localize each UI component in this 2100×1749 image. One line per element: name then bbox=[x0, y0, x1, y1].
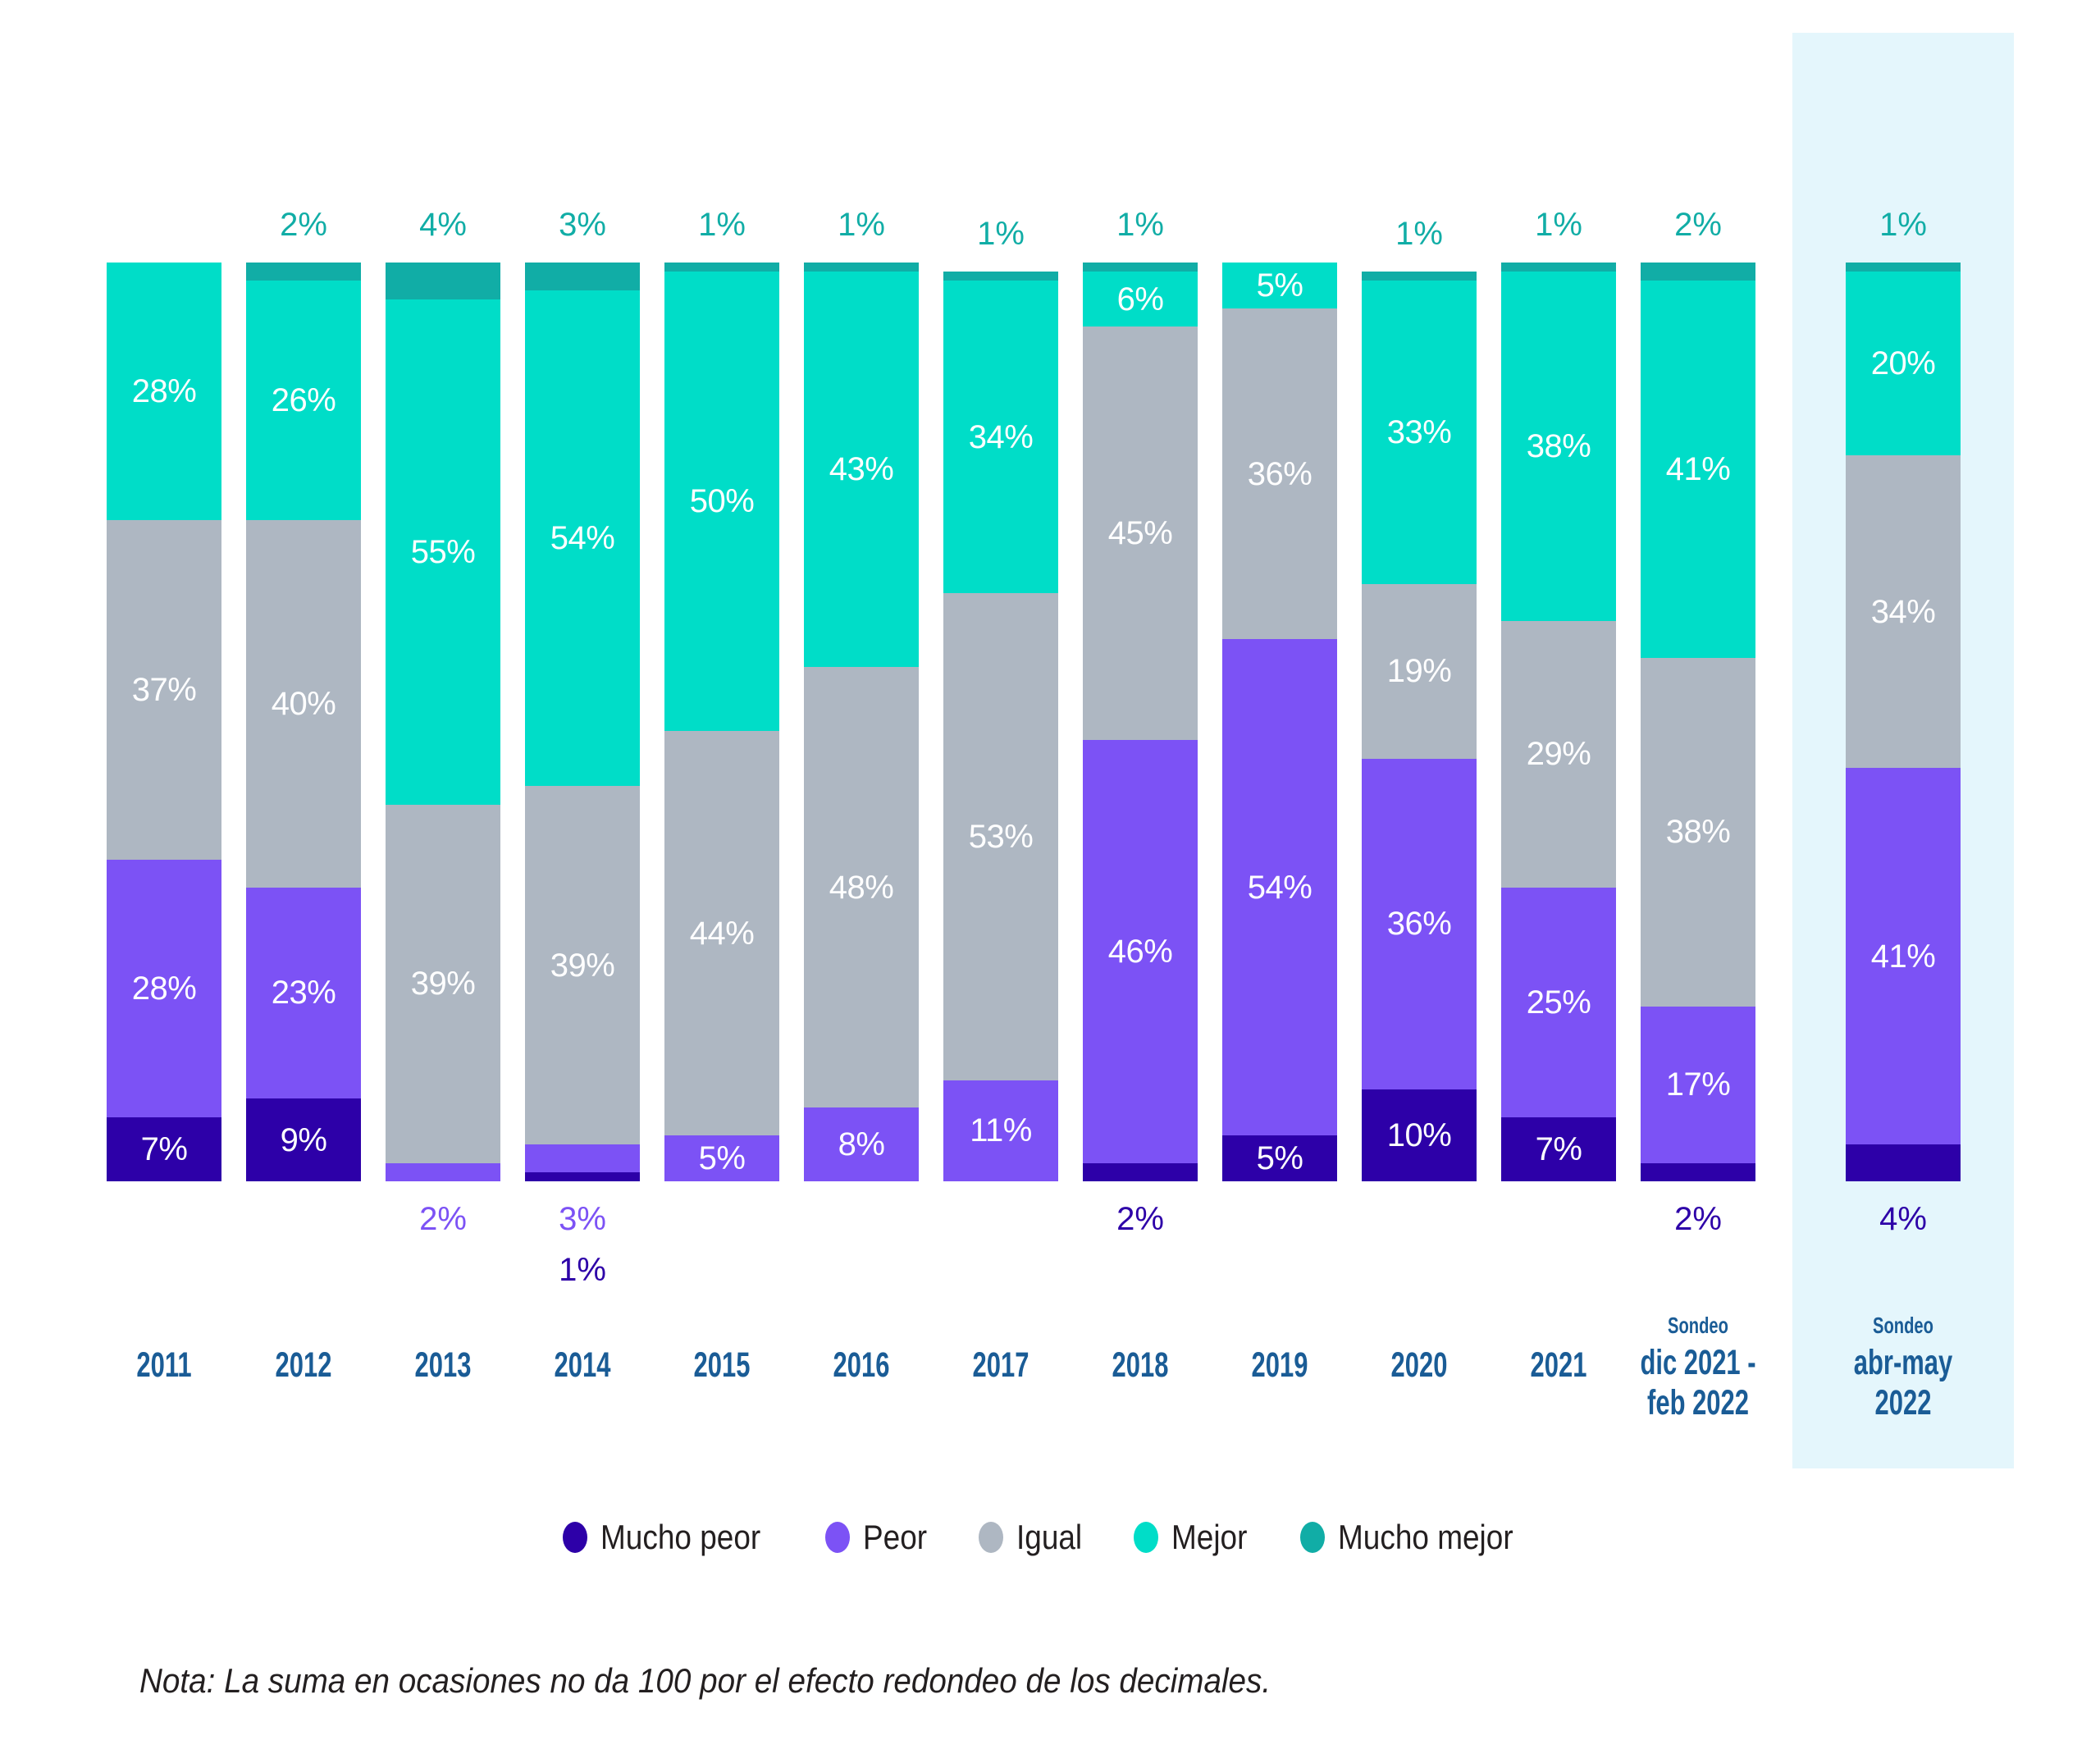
bar-segment[interactable] bbox=[1846, 263, 1961, 272]
bar-segment[interactable]: 38% bbox=[1501, 272, 1616, 621]
segment-value-label-external: 1% bbox=[838, 208, 885, 241]
bar-segment[interactable]: 34% bbox=[1846, 455, 1961, 768]
segment-value-label: 17% bbox=[1666, 1068, 1731, 1101]
segment-value-label: 37% bbox=[132, 674, 197, 706]
segment-value-label-external: 2% bbox=[280, 208, 327, 241]
legend-label: Mejor bbox=[1171, 1518, 1247, 1557]
bar-segment[interactable]: 38% bbox=[1641, 658, 1755, 1007]
bar-segment[interactable] bbox=[664, 263, 779, 272]
bar-segment[interactable] bbox=[943, 272, 1058, 281]
bar-segment[interactable]: 45% bbox=[1083, 327, 1198, 740]
bar-segment[interactable]: 9% bbox=[246, 1098, 361, 1181]
bar-segment[interactable]: 41% bbox=[1846, 768, 1961, 1144]
segment-value-label: 40% bbox=[272, 687, 336, 720]
x-axis-label-10: 2020 bbox=[1360, 1345, 1478, 1385]
x-axis-label-3: 2013 bbox=[384, 1345, 502, 1385]
bar-segment[interactable]: 50% bbox=[664, 272, 779, 731]
segment-value-label: 44% bbox=[690, 917, 755, 950]
legend-item-mucho-mejor[interactable]: Mucho mejor bbox=[1300, 1518, 1537, 1557]
bar-segment[interactable] bbox=[1083, 263, 1198, 272]
bar-column[interactable]: 2%26%40%23%9% bbox=[246, 33, 361, 1444]
segment-value-label: 19% bbox=[1387, 655, 1452, 687]
x-axis-label-main: 2017 bbox=[973, 1345, 1029, 1385]
bar-segment[interactable]: 26% bbox=[246, 281, 361, 519]
segment-value-label: 26% bbox=[272, 384, 336, 417]
bar-segment[interactable]: 41% bbox=[1641, 281, 1755, 657]
bar-column[interactable]: 1%38%29%25%7% bbox=[1501, 33, 1616, 1444]
bar-stack: 1%34%53%11% bbox=[943, 272, 1058, 1181]
segment-value-label: 41% bbox=[1871, 940, 1936, 973]
bar-segment[interactable] bbox=[246, 263, 361, 281]
segment-value-label: 43% bbox=[829, 453, 894, 486]
bar-segment[interactable]: 36% bbox=[1362, 759, 1477, 1089]
bar-segment[interactable]: 55% bbox=[386, 299, 500, 805]
segment-value-label-external: 2% bbox=[1674, 1203, 1722, 1235]
segment-value-label-external: 1% bbox=[698, 208, 746, 241]
segment-value-label: 6% bbox=[1117, 283, 1164, 316]
x-axis-label-11: 2021 bbox=[1500, 1345, 1618, 1385]
bar-stack: 1%20%34%41%4% bbox=[1846, 263, 1961, 1181]
bar-segment[interactable] bbox=[1641, 1163, 1755, 1181]
bar-column[interactable]: 3%54%39%3%1% bbox=[525, 33, 640, 1444]
bar-segment[interactable]: 8% bbox=[804, 1107, 919, 1181]
bar-column[interactable]: 1%20%34%41%4% bbox=[1846, 33, 1961, 1444]
bar-segment[interactable]: 39% bbox=[386, 805, 500, 1163]
bar-segment[interactable]: 54% bbox=[525, 290, 640, 787]
x-axis-label-main: 2018 bbox=[1112, 1345, 1169, 1385]
bar-segment[interactable]: 54% bbox=[1222, 639, 1337, 1135]
x-axis-label-6: 2016 bbox=[802, 1345, 920, 1385]
bar-column[interactable]: 28%37%28%7% bbox=[107, 33, 221, 1444]
segment-value-label: 23% bbox=[272, 976, 336, 1009]
bar-column[interactable]: 5%36%54%5% bbox=[1222, 33, 1337, 1444]
segment-value-label-external: 4% bbox=[419, 208, 467, 241]
segment-value-label: 20% bbox=[1871, 347, 1936, 380]
x-axis-labels: 2011201220132014201520162017201820192020… bbox=[98, 1313, 2018, 1444]
segment-value-label-external: 1% bbox=[1116, 208, 1164, 241]
x-axis-label-8: 2018 bbox=[1081, 1345, 1199, 1385]
x-axis-label-main: 2020 bbox=[1391, 1345, 1448, 1385]
x-axis-label-13: Sondeoabr-may2022 bbox=[1844, 1313, 1962, 1422]
x-axis-label-main: 2013 bbox=[415, 1345, 472, 1385]
legend-label: Peor bbox=[863, 1518, 927, 1557]
bar-column[interactable]: 1%43%48%8% bbox=[804, 33, 919, 1444]
segment-value-label: 25% bbox=[1527, 986, 1591, 1019]
bar-segment[interactable] bbox=[1083, 1163, 1198, 1181]
x-axis-label-12: Sondeodic 2021 -feb 2022 bbox=[1639, 1313, 1757, 1422]
bar-segment[interactable]: 28% bbox=[107, 263, 221, 520]
bar-column[interactable]: 2%41%38%17%2% bbox=[1641, 33, 1755, 1444]
segment-value-label: 34% bbox=[1871, 596, 1936, 628]
bar-segment[interactable]: 33% bbox=[1362, 281, 1477, 584]
bar-column[interactable]: 1%6%45%46%2% bbox=[1083, 33, 1198, 1444]
legend-item-mucho-peor[interactable]: Mucho peor bbox=[563, 1518, 783, 1557]
bar-stack: 5%36%54%5% bbox=[1222, 263, 1337, 1181]
bar-segment[interactable]: 48% bbox=[804, 667, 919, 1108]
segment-value-label-external: 3% bbox=[559, 1203, 606, 1235]
bar-segment[interactable]: 11% bbox=[943, 1080, 1058, 1181]
segment-value-label: 5% bbox=[699, 1142, 746, 1175]
plot-area: 28%37%28%7%2%26%40%23%9%4%55%39%2%3%54%3… bbox=[98, 33, 2018, 1444]
segment-value-label: 28% bbox=[132, 972, 197, 1005]
segment-value-label-external: 1% bbox=[559, 1254, 606, 1286]
bar-segment[interactable]: 28% bbox=[107, 860, 221, 1117]
legend-swatch-icon bbox=[979, 1522, 1003, 1553]
bar-segment[interactable] bbox=[386, 263, 500, 299]
bar-segment[interactable]: 10% bbox=[1362, 1089, 1477, 1181]
stacked-bars-layer: 28%37%28%7%2%26%40%23%9%4%55%39%2%3%54%3… bbox=[98, 33, 2018, 1444]
x-axis-label-main: 2011 bbox=[136, 1345, 191, 1385]
segment-value-label: 54% bbox=[550, 522, 615, 555]
x-axis-label-prefix: Sondeo bbox=[1639, 1313, 1757, 1338]
segment-value-label-external: 1% bbox=[1395, 217, 1443, 250]
segment-value-label: 28% bbox=[132, 375, 197, 408]
segment-value-label: 7% bbox=[1536, 1133, 1582, 1166]
bar-stack: 28%37%28%7% bbox=[107, 263, 221, 1181]
segment-value-label: 50% bbox=[690, 485, 755, 518]
legend-swatch-icon bbox=[563, 1522, 587, 1553]
bar-segment[interactable]: 34% bbox=[943, 281, 1058, 593]
bar-segment[interactable]: 29% bbox=[1501, 621, 1616, 888]
bar-segment[interactable] bbox=[386, 1163, 500, 1181]
legend-item-peor[interactable]: Peor bbox=[825, 1518, 936, 1557]
bar-segment[interactable]: 7% bbox=[1501, 1117, 1616, 1181]
x-axis-label-main: 2021 bbox=[1531, 1345, 1587, 1385]
bar-stack: 2%41%38%17%2% bbox=[1641, 263, 1755, 1181]
bar-stack: 2%26%40%23%9% bbox=[246, 263, 361, 1181]
segment-value-label: 33% bbox=[1387, 416, 1452, 449]
segment-value-label: 38% bbox=[1527, 430, 1591, 463]
bar-segment[interactable]: 43% bbox=[804, 272, 919, 667]
bar-segment[interactable]: 36% bbox=[1222, 308, 1337, 639]
x-axis-label-7: 2017 bbox=[942, 1345, 1060, 1385]
segment-value-label: 9% bbox=[281, 1124, 327, 1157]
segment-value-label: 34% bbox=[969, 421, 1034, 454]
x-axis-label-2: 2012 bbox=[244, 1345, 363, 1385]
legend-label: Mucho mejor bbox=[1338, 1518, 1513, 1557]
x-axis-label-main: 2014 bbox=[555, 1345, 611, 1385]
legend-swatch-icon bbox=[825, 1522, 850, 1553]
x-axis-label-main: dic 2021 -feb 2022 bbox=[1640, 1343, 1755, 1422]
x-axis-label-5: 2015 bbox=[663, 1345, 781, 1385]
bar-segment[interactable] bbox=[1641, 263, 1755, 281]
legend-item-igual[interactable]: Igual bbox=[979, 1518, 1091, 1557]
segment-value-label-external: 2% bbox=[1116, 1203, 1164, 1235]
legend-item-mejor[interactable]: Mejor bbox=[1134, 1518, 1258, 1557]
segment-value-label: 39% bbox=[411, 967, 476, 1000]
segment-value-label: 41% bbox=[1666, 453, 1731, 486]
x-axis-label-main: abr-may2022 bbox=[1854, 1343, 1952, 1422]
x-axis-label-main: 2019 bbox=[1252, 1345, 1308, 1385]
bar-segment[interactable]: 40% bbox=[246, 520, 361, 888]
bar-segment[interactable] bbox=[1846, 1144, 1961, 1181]
chart-legend: Mucho peorPeorIgualMejorMucho mejor bbox=[0, 1518, 2100, 1557]
bar-segment[interactable] bbox=[1501, 263, 1616, 272]
segment-value-label: 38% bbox=[1666, 815, 1731, 848]
segment-value-label-external: 4% bbox=[1879, 1203, 1927, 1235]
bar-stack: 3%54%39%3%1% bbox=[525, 263, 640, 1181]
segment-value-label: 36% bbox=[1248, 458, 1312, 491]
bar-segment[interactable]: 39% bbox=[525, 786, 640, 1144]
bar-stack: 4%55%39%2% bbox=[386, 263, 500, 1181]
bar-segment[interactable] bbox=[525, 1144, 640, 1172]
x-axis-label-1: 2011 bbox=[105, 1345, 223, 1385]
segment-value-label: 55% bbox=[411, 536, 476, 569]
bar-segment[interactable]: 23% bbox=[246, 888, 361, 1099]
legend-swatch-icon bbox=[1300, 1522, 1325, 1553]
bar-stack: 1%38%29%25%7% bbox=[1501, 263, 1616, 1181]
segment-value-label-external: 1% bbox=[1879, 208, 1927, 241]
bar-segment[interactable]: 6% bbox=[1083, 272, 1198, 327]
bar-column[interactable]: 1%50%44%5% bbox=[664, 33, 779, 1444]
segment-value-label: 5% bbox=[1257, 269, 1303, 302]
x-axis-label-main: 2016 bbox=[833, 1345, 890, 1385]
bar-column[interactable]: 1%33%19%36%10% bbox=[1362, 33, 1477, 1444]
segment-value-label: 53% bbox=[969, 820, 1034, 853]
x-axis-label-prefix: Sondeo bbox=[1844, 1313, 1962, 1338]
segment-value-label-external: 2% bbox=[419, 1203, 467, 1235]
segment-value-label: 7% bbox=[141, 1133, 188, 1166]
bar-column[interactable]: 4%55%39%2% bbox=[386, 33, 500, 1444]
legend-swatch-icon bbox=[1134, 1522, 1158, 1553]
x-axis-label-4: 2014 bbox=[523, 1345, 641, 1385]
segment-value-label-external: 3% bbox=[559, 208, 606, 241]
segment-value-label: 54% bbox=[1248, 871, 1312, 904]
bar-segment[interactable]: 5% bbox=[664, 1135, 779, 1181]
bar-stack: 1%43%48%8% bbox=[804, 263, 919, 1181]
segment-value-label: 10% bbox=[1387, 1119, 1452, 1152]
legend-label: Mucho peor bbox=[600, 1518, 760, 1557]
chart-note: Nota: La suma en ocasiones no da 100 por… bbox=[139, 1661, 1271, 1701]
segment-value-label: 5% bbox=[1257, 1142, 1303, 1175]
segment-value-label: 39% bbox=[550, 949, 615, 982]
bar-stack: 1%33%19%36%10% bbox=[1362, 272, 1477, 1181]
chart-root: 28%37%28%7%2%26%40%23%9%4%55%39%2%3%54%3… bbox=[0, 0, 2100, 1749]
bar-segment[interactable]: 46% bbox=[1083, 740, 1198, 1162]
bar-segment[interactable]: 37% bbox=[107, 520, 221, 860]
bar-segment[interactable]: 17% bbox=[1641, 1007, 1755, 1162]
segment-value-label: 36% bbox=[1387, 907, 1452, 940]
bar-segment[interactable]: 5% bbox=[1222, 1135, 1337, 1181]
segment-value-label: 48% bbox=[829, 871, 894, 904]
bar-segment[interactable] bbox=[525, 263, 640, 290]
bar-segment[interactable]: 19% bbox=[1362, 584, 1477, 759]
segment-value-label-external: 1% bbox=[977, 217, 1025, 250]
bar-column[interactable]: 1%34%53%11% bbox=[943, 33, 1058, 1444]
bar-segment[interactable]: 44% bbox=[664, 731, 779, 1135]
segment-value-label: 45% bbox=[1108, 517, 1173, 550]
bar-segment[interactable]: 7% bbox=[107, 1117, 221, 1181]
segment-value-label-external: 2% bbox=[1674, 208, 1722, 241]
x-axis-label-main: 2012 bbox=[276, 1345, 332, 1385]
segment-value-label-external: 1% bbox=[1535, 208, 1582, 241]
segment-value-label: 29% bbox=[1527, 738, 1591, 770]
bar-segment[interactable]: 5% bbox=[1222, 263, 1337, 308]
x-axis-label-main: 2015 bbox=[694, 1345, 751, 1385]
segment-value-label: 8% bbox=[838, 1128, 885, 1161]
bar-segment[interactable]: 20% bbox=[1846, 272, 1961, 455]
segment-value-label: 11% bbox=[970, 1114, 1032, 1147]
bar-stack: 1%6%45%46%2% bbox=[1083, 263, 1198, 1181]
segment-value-label: 46% bbox=[1108, 935, 1173, 968]
bar-segment[interactable]: 25% bbox=[1501, 888, 1616, 1117]
bar-segment[interactable] bbox=[804, 263, 919, 272]
bar-stack: 1%50%44%5% bbox=[664, 263, 779, 1181]
bar-segment[interactable] bbox=[525, 1172, 640, 1181]
bar-segment[interactable] bbox=[1362, 272, 1477, 281]
x-axis-label-9: 2019 bbox=[1221, 1345, 1339, 1385]
legend-label: Igual bbox=[1016, 1518, 1082, 1557]
bar-segment[interactable]: 53% bbox=[943, 593, 1058, 1080]
